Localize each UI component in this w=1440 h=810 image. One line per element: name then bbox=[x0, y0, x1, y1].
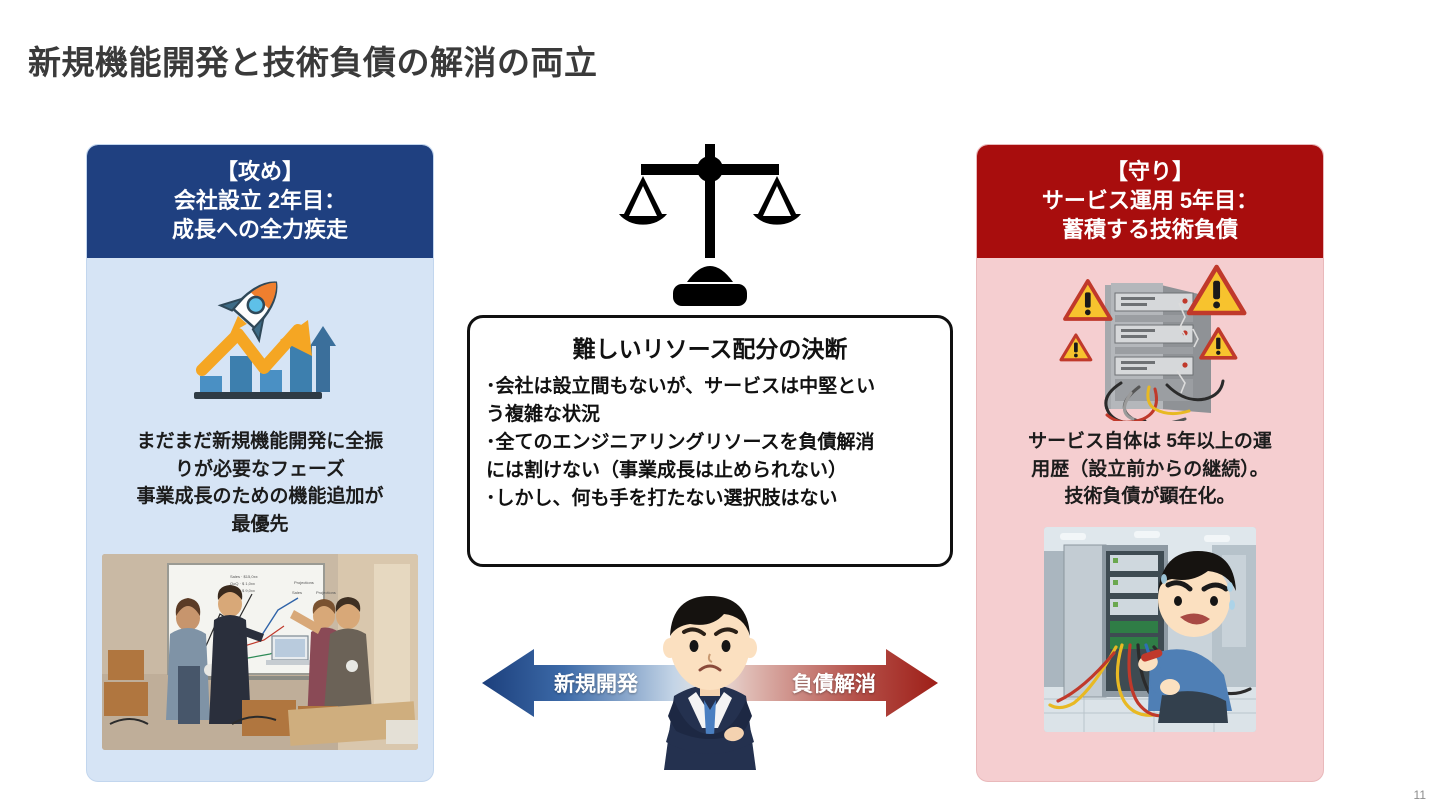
card-defense-body-line1: サービス自体は 5年以上の運 bbox=[1028, 428, 1272, 456]
resource-allocation-box: 難しいリソース配分の決断 ･会社は設立間もないが、サービスは中堅とい う複雑な状… bbox=[467, 315, 953, 567]
worried-businessman-icon bbox=[634, 588, 786, 770]
center-box-bullet: には割けない（事業成長は止められない） bbox=[486, 458, 934, 485]
card-defense-body: サービス自体は 5年以上の運 用歴（設立前からの継続）。 技術負債が顕在化。 bbox=[1012, 428, 1288, 511]
card-defense-header-line2: 蓄積する技術負債 bbox=[983, 215, 1317, 244]
svg-text:QoQ · $ 1,0xx: QoQ · $ 1,0xx bbox=[230, 581, 255, 586]
center-box-bullet: う複雑な状況 bbox=[486, 402, 934, 429]
card-defense-body-line3: 技術負債が顕在化。 bbox=[1028, 483, 1272, 511]
card-defense-body-line2: 用歴（設立前からの継続）。 bbox=[1028, 456, 1272, 484]
card-offense-header-line2: 成長への全力疾走 bbox=[93, 215, 427, 244]
card-offense-body-line2: りが必要なフェーズ bbox=[136, 456, 383, 484]
svg-text:Sales: Sales bbox=[292, 590, 302, 595]
arrow-label-debt-repayment: 負債解消 bbox=[792, 668, 876, 698]
card-offense-header-line1: 会社設立 2年目： bbox=[93, 186, 427, 215]
balance-scale-icon bbox=[617, 142, 803, 312]
center-box-bullet: ･会社は設立間もないが、サービスは中堅とい bbox=[486, 374, 934, 401]
arrow-label-new-development: 新規開発 bbox=[554, 668, 638, 698]
page-title: 新規機能開発と技術負債の解消の両立 bbox=[28, 36, 598, 84]
engineer-server-cables-photo bbox=[1044, 527, 1256, 732]
card-offense: 【攻め】 会社設立 2年目： 成長への全力疾走 bbox=[86, 144, 434, 782]
card-offense-body-line1: まだまだ新規機能開発に全振 bbox=[136, 428, 383, 456]
card-offense-body: まだまだ新規機能開発に全振 りが必要なフェーズ 事業成長のための機能追加が 最優… bbox=[120, 428, 399, 538]
card-offense-header: 【攻め】 会社設立 2年目： 成長への全力疾走 bbox=[87, 145, 433, 258]
svg-text:Projections: Projections bbox=[316, 590, 336, 595]
center-box-title: 難しいリソース配分の決断 bbox=[486, 330, 934, 364]
card-defense-header-line1: サービス運用 5年目： bbox=[983, 186, 1317, 215]
slide-root: 新規機能開発と技術負債の解消の両立 【攻め】 会社設立 2年目： 成長への全力疾… bbox=[0, 0, 1440, 810]
rocket-growth-chart-icon bbox=[87, 262, 433, 422]
card-defense-header-tag: 【守り】 bbox=[983, 157, 1317, 186]
center-box-bullet: ･全てのエンジニアリングリソースを負債解消 bbox=[486, 430, 934, 457]
server-rack-warning-icon bbox=[977, 262, 1323, 422]
center-box-bullet-list: ･会社は設立間もないが、サービスは中堅とい う複雑な状況 ･全てのエンジニアリン… bbox=[486, 374, 934, 513]
svg-text:Projections: Projections bbox=[294, 580, 314, 585]
center-box-bullet: ･しかし、何も手を打たない選択肢はない bbox=[486, 486, 934, 513]
card-defense-header: 【守り】 サービス運用 5年目： 蓄積する技術負債 bbox=[977, 145, 1323, 258]
page-number: 11 bbox=[1414, 788, 1426, 802]
card-defense: 【守り】 サービス運用 5年目： 蓄積する技術負債 bbox=[976, 144, 1324, 782]
startup-team-whiteboard-photo: Sales · $15,0xx QoQ · $ 1,0xx QoQ · $ 9,… bbox=[102, 554, 418, 750]
svg-text:Sales · $15,0xx: Sales · $15,0xx bbox=[230, 574, 258, 579]
card-offense-header-tag: 【攻め】 bbox=[93, 157, 427, 186]
card-offense-body-line3: 事業成長のための機能追加が bbox=[136, 483, 383, 511]
card-offense-body-line4: 最優先 bbox=[136, 511, 383, 539]
